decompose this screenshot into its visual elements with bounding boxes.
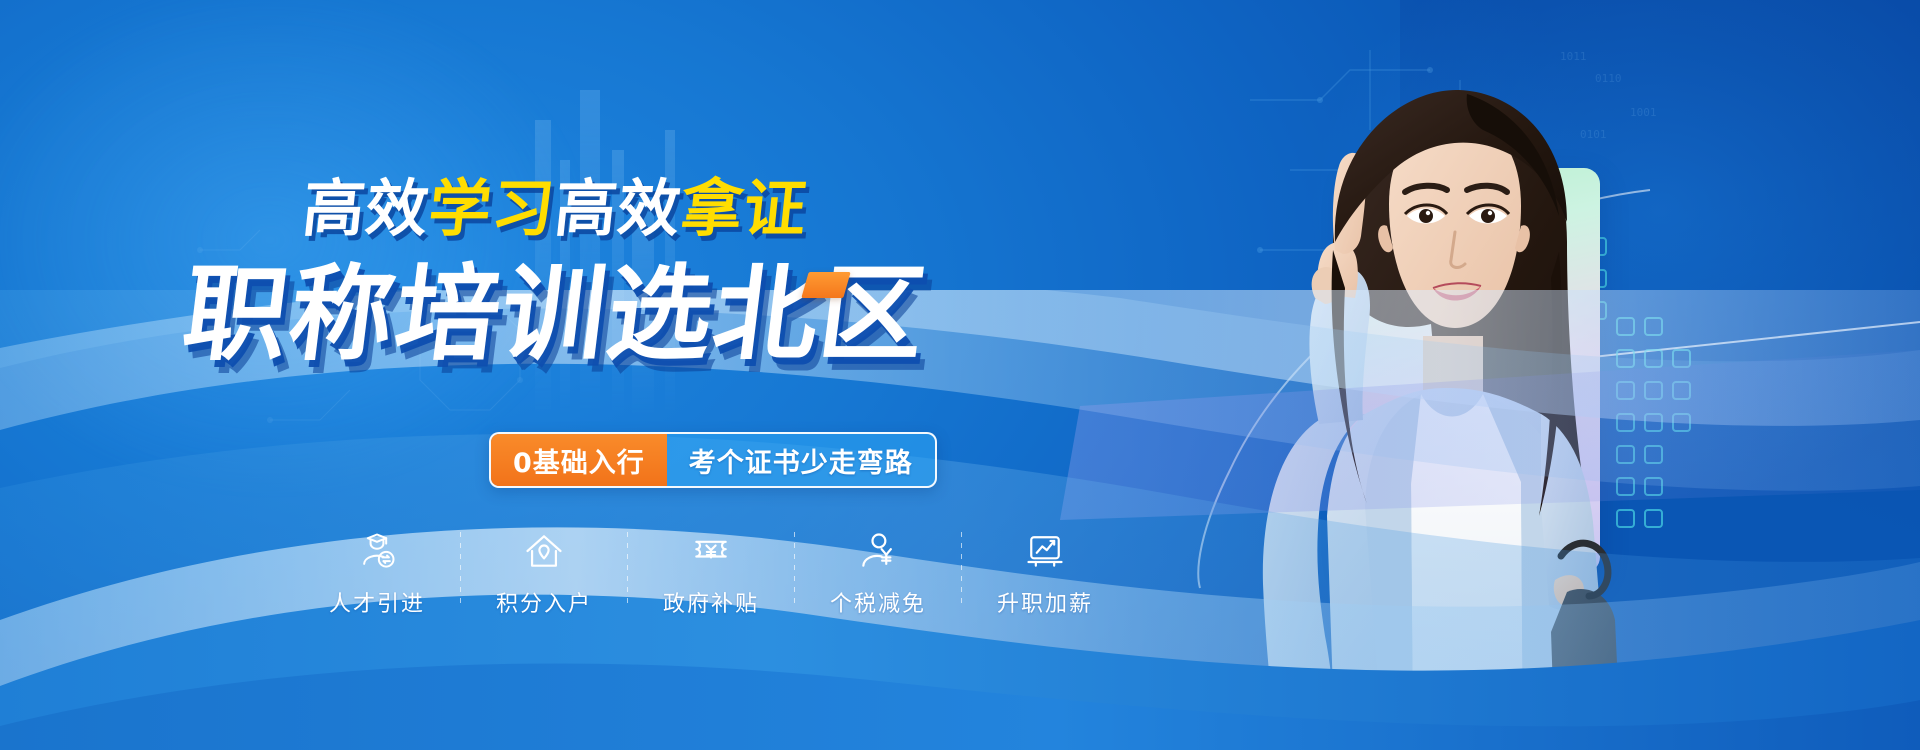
headline-sub-seg-2: 学习 bbox=[425, 172, 559, 245]
feature-item-points-residency[interactable]: 积分入户 bbox=[477, 528, 611, 618]
person-yuan-icon bbox=[856, 528, 900, 574]
headline-sub-seg-1: 高效 bbox=[299, 172, 433, 245]
feature-divider bbox=[460, 532, 461, 604]
headline-subtitle: 高效学习高效拿证 bbox=[0, 178, 1113, 240]
feature-label: 个税减免 bbox=[830, 586, 926, 618]
feature-item-tax-reduction[interactable]: 个税减免 bbox=[811, 528, 945, 618]
instructor-photo bbox=[1215, 36, 1685, 750]
feature-label: 升职加薪 bbox=[997, 586, 1093, 618]
feature-item-government-subsidy[interactable]: 政府补贴 bbox=[644, 528, 778, 618]
feature-item-promotion-raise[interactable]: 升职加薪 bbox=[978, 528, 1112, 618]
headline-main: 职称培训选北区 bbox=[0, 262, 1116, 366]
tagline-badge[interactable]: 0基础入行 bbox=[491, 434, 667, 486]
headline-sub-seg-4: 拿证 bbox=[677, 172, 811, 245]
ticket-yuan-icon bbox=[689, 528, 733, 574]
feature-label: 政府补贴 bbox=[663, 586, 759, 618]
graduate-exchange-icon bbox=[355, 528, 399, 574]
feature-label: 人才引进 bbox=[329, 586, 425, 618]
tagline-pill[interactable]: 0基础入行 考个证书少走弯路 bbox=[489, 432, 937, 488]
feature-divider bbox=[627, 532, 628, 604]
orange-accent-mark bbox=[801, 272, 850, 298]
feature-divider bbox=[794, 532, 795, 604]
hero-media bbox=[1255, 0, 1775, 750]
tagline-text: 考个证书少走弯路 bbox=[667, 434, 935, 486]
chart-board-icon bbox=[1023, 528, 1067, 574]
feature-divider bbox=[961, 532, 962, 604]
feature-label: 积分入户 bbox=[496, 586, 592, 618]
headline-sub-seg-3: 高效 bbox=[551, 172, 685, 245]
copy-block: 高效学习高效拿证 职称培训选北区 0基础入行 考个证书少走弯路 bbox=[0, 0, 1110, 750]
promo-banner: 1011 0110 1001 0101 bbox=[0, 0, 1920, 750]
feature-item-talent-import[interactable]: 人才引进 bbox=[310, 528, 444, 618]
house-pin-icon bbox=[522, 528, 566, 574]
feature-list: 人才引进 积分入户 bbox=[310, 528, 1112, 618]
